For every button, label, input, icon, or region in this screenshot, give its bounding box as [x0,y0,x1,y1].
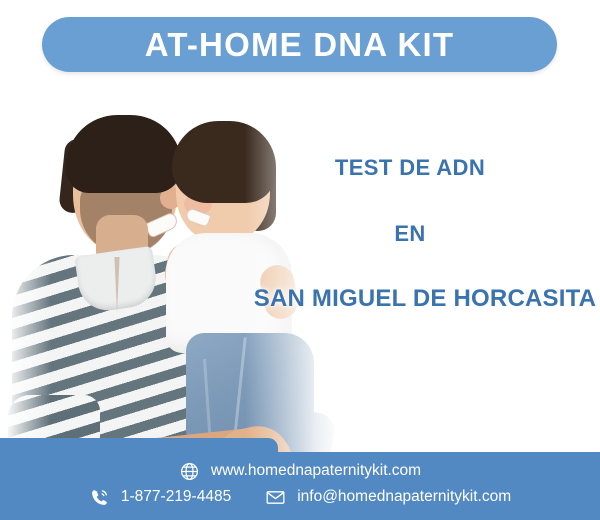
location-line-city: SAN MIGUEL DE HORCASITA [250,285,600,313]
footer-bar: www.homednapaternitykit.com 1-877-219-44… [0,438,600,520]
globe-icon [179,461,200,482]
footer-website[interactable]: www.homednapaternitykit.com [179,461,421,482]
footer-email-label: info@homednapaternitykit.com [297,489,511,505]
envelope-icon [265,487,286,508]
location-line-en: EN [220,221,600,247]
header-title: AT-HOME DNA KIT [145,28,454,61]
poster-canvas: AT-HOME DNA KIT [0,0,600,520]
photo-man-hair [66,115,182,193]
header-banner: AT-HOME DNA KIT [42,17,557,72]
footer-phone[interactable]: 1-877-219-4485 [89,487,231,508]
phone-icon [89,487,110,508]
footer-content: www.homednapaternitykit.com 1-877-219-44… [0,438,600,520]
location-text-block: TEST DE ADN EN SAN MIGUEL DE HORCASITA [220,155,600,313]
footer-website-label: www.homednapaternitykit.com [211,463,421,479]
footer-email[interactable]: info@homednapaternitykit.com [265,487,511,508]
location-line-test-de-adn: TEST DE ADN [220,155,600,181]
footer-row-contact: 1-877-219-4485 info@homednapaternitykit.… [89,487,511,508]
footer-row-website: www.homednapaternitykit.com [179,461,421,482]
footer-phone-label: 1-877-219-4485 [121,489,231,505]
